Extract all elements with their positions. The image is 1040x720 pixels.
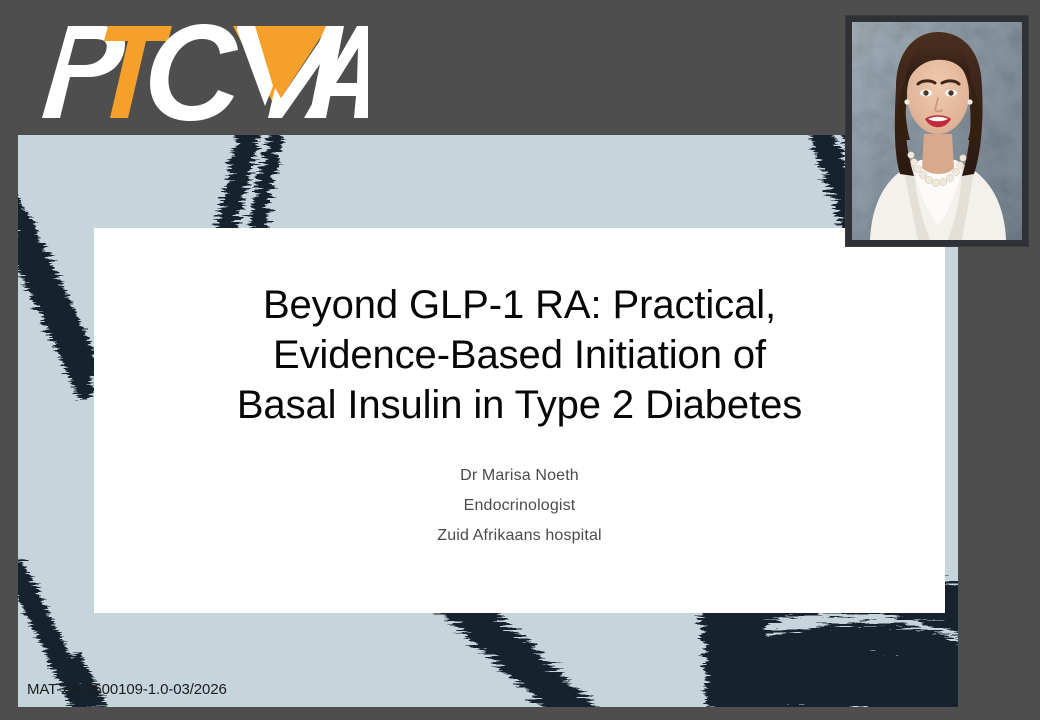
brush-stroke-bottom-mass — [706, 655, 958, 707]
presenter-block: Dr Marisa Noeth Endocrinologist Zuid Afr… — [437, 461, 601, 551]
brush-stroke-upper-left — [18, 191, 104, 401]
ptcma-logo — [28, 20, 368, 124]
presenter-photo — [852, 22, 1022, 240]
presenter-photo-frame — [846, 16, 1028, 246]
title-card-content: Beyond GLP-1 RA: Practical, Evidence-Bas… — [94, 228, 945, 613]
portrait-neck — [922, 134, 954, 174]
page-title: Beyond GLP-1 RA: Practical, Evidence-Bas… — [237, 280, 802, 430]
presenter-portrait-svg — [852, 22, 1022, 240]
portrait-earring-left — [904, 99, 909, 104]
slide-canvas: Beyond GLP-1 RA: Practical, Evidence-Bas… — [18, 135, 958, 707]
title-card: Beyond GLP-1 RA: Practical, Evidence-Bas… — [94, 228, 945, 613]
portrait-iris-left — [923, 90, 928, 95]
ptcma-logo-svg — [28, 20, 368, 124]
footer-reference-code: MAT-ZA-2600109-1.0-03/2026 — [27, 681, 227, 698]
portrait-earring-right — [967, 99, 972, 104]
presenter-name: Dr Marisa Noeth — [437, 461, 601, 491]
portrait-iris-right — [948, 90, 953, 95]
presentation-viewer: Beyond GLP-1 RA: Practical, Evidence-Bas… — [0, 0, 1040, 720]
presenter-affiliation: Zuid Afrikaans hospital — [437, 521, 601, 551]
presenter-role: Endocrinologist — [437, 491, 601, 521]
